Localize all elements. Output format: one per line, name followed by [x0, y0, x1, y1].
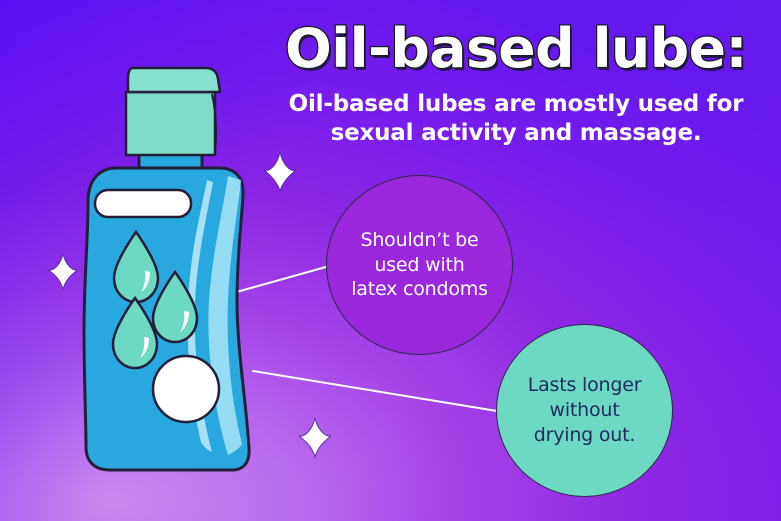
bottle-label	[95, 190, 191, 217]
bubble-lasts-longer-text: Lasts longer without drying out.	[518, 373, 652, 447]
sparkle-left-icon	[48, 254, 78, 289]
bubble-lasts-longer[interactable]: Lasts longer without drying out.	[496, 324, 673, 497]
connector-to-no-latex	[233, 265, 333, 293]
bubble-no-latex-text: Shouldn’t be used with latex condoms	[341, 228, 498, 302]
connector-to-lasts-longer	[253, 371, 503, 412]
bottle-dot	[153, 356, 219, 422]
sparkle-bottom-icon	[299, 418, 331, 457]
sparkle-top-icon	[264, 152, 296, 191]
bottle-cap-top	[128, 68, 220, 92]
infographic-canvas: Oil-based lube: Oil-based lubes are most…	[0, 0, 781, 521]
bottle-cap-lower	[126, 92, 215, 155]
lube-bottle-illustration	[84, 68, 249, 470]
page-title: Oil-based lube:	[253, 22, 779, 76]
bubble-no-latex[interactable]: Shouldn’t be used with latex condoms	[326, 175, 513, 355]
header-block: Oil-based lube: Oil-based lubes are most…	[258, 22, 774, 149]
page-subtitle: Oil-based lubes are mostly used for sexu…	[258, 90, 774, 149]
